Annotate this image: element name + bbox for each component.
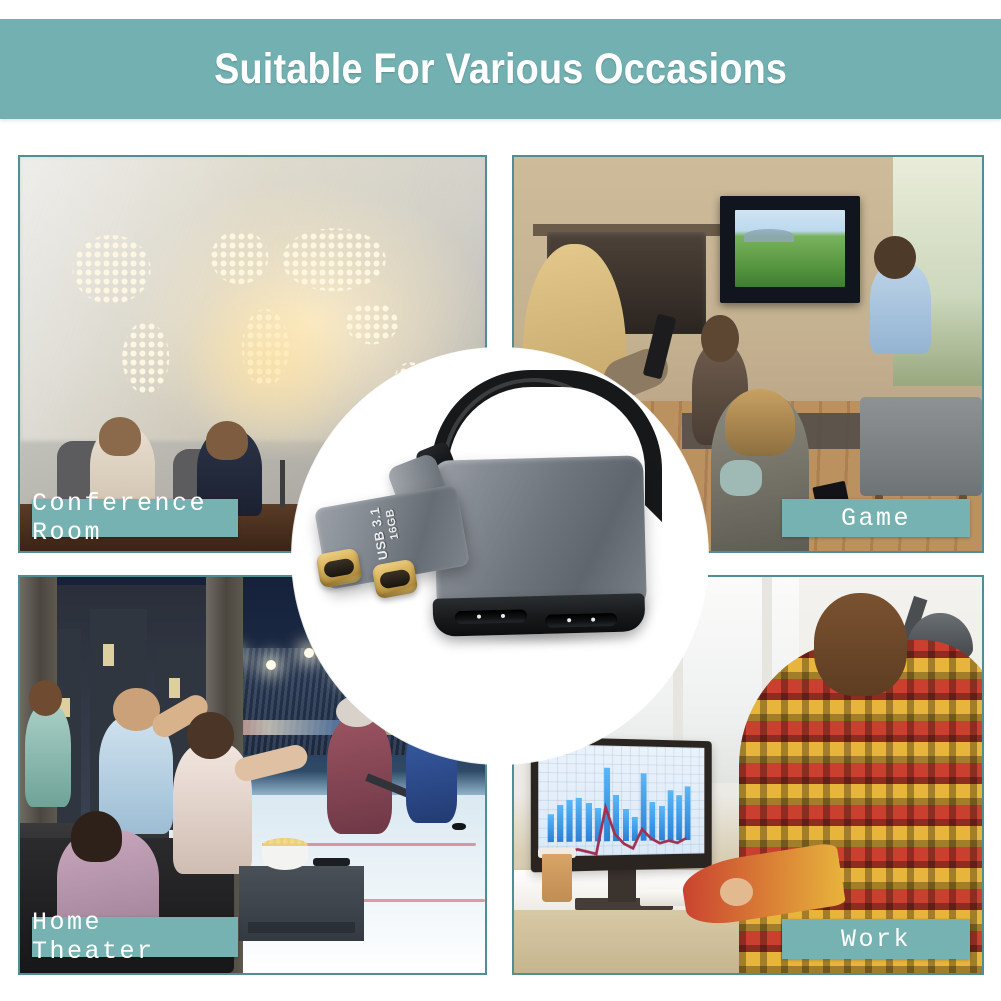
header-banner: Suitable For Various Occasions: [0, 19, 1001, 119]
man-head: [814, 593, 908, 696]
person-phone-hair: [725, 389, 795, 456]
child-cheering: [25, 704, 72, 807]
hdmi-port-2-pin: [567, 618, 571, 622]
usb-c-plug-2: [371, 559, 418, 600]
person-right-head: [206, 421, 248, 460]
tv-screen: [735, 210, 845, 287]
window-light: [103, 644, 114, 666]
usb-c-plug-2-slot: [379, 569, 411, 590]
scarf: [720, 460, 762, 495]
monitor-stand: [608, 866, 636, 902]
person-left-head: [99, 417, 141, 456]
caption-game: Game: [782, 499, 970, 537]
hdmi-port-2: [545, 613, 617, 628]
hdmi-port-1-pin: [501, 614, 505, 618]
tv-game-hill: [744, 229, 794, 243]
adapter-body: [433, 455, 647, 615]
window-light: [169, 678, 180, 698]
product-hero-circle: USB 3.1 16GB: [292, 348, 708, 764]
man-hand: [720, 878, 753, 906]
ottoman: [860, 397, 982, 496]
adapter-front-face: [433, 593, 646, 637]
microphone: [280, 460, 285, 507]
man-reaching-head: [187, 712, 234, 760]
child-cheering-head: [29, 680, 62, 716]
caption-home-theater: Home Theater: [32, 917, 238, 957]
hdmi-port-1-pin: [477, 615, 481, 619]
coffee-table-shelf: [248, 922, 355, 934]
usb-c-hdmi-adapter: USB 3.1 16GB: [292, 348, 708, 764]
caption-conference-room: Conference Room: [32, 499, 238, 537]
popcorn-bowl: [262, 846, 309, 870]
woman-on-sofa-head: [71, 811, 122, 862]
hdmi-port-1: [455, 609, 527, 624]
page-title: Suitable For Various Occasions: [214, 45, 787, 94]
usb-c-plug-1-slot: [323, 558, 355, 579]
tv-remote-on-table: [313, 858, 350, 866]
hdmi-port-2-pin: [591, 618, 595, 622]
caption-work: Work: [782, 919, 970, 959]
product-infographic: Suitable For Various Occasions Conferenc…: [0, 0, 1001, 1001]
wall-tv: [720, 196, 860, 302]
coffee-cup: [542, 854, 572, 902]
